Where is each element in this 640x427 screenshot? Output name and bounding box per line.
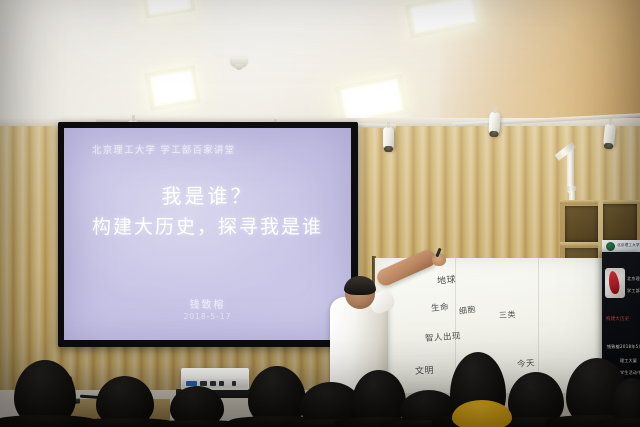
screen-vignette — [64, 128, 351, 340]
banner-vertical-title: 北京理工大学 — [627, 276, 640, 281]
banner-detail-2: 2018年5月17日 — [620, 344, 640, 349]
whiteboard-note-7: 文明 — [415, 363, 435, 377]
shelf-cubby-1 — [565, 206, 598, 242]
whiteboard-note-2: 地球 — [436, 272, 456, 287]
banner-detail-1: 钱致榕 — [607, 344, 620, 349]
whiteboard-note-5: 三类 — [499, 309, 517, 321]
banner-detail-4: 学生活动中心 — [620, 370, 640, 375]
banner-sub-text: 学工部百家讲堂 — [627, 288, 640, 293]
audience-head-11-shoulders — [599, 418, 640, 427]
whiteboard-note-4: 细胞 — [458, 304, 476, 317]
banner-highlight-text: 构建大历史 — [606, 316, 629, 322]
whiteboard-note-3: 生命 — [430, 300, 449, 314]
smoke-detector-icon — [231, 57, 247, 66]
whiteboard-note-6: 智人出现 — [425, 330, 462, 344]
banner-university-logo-icon — [606, 242, 615, 251]
wall-pipe-collar — [566, 186, 577, 191]
banner-detail-3: 理工大厦 — [620, 358, 637, 363]
projector-port-2 — [210, 381, 216, 386]
projector-port-1 — [200, 381, 207, 386]
projection-screen-frame: 北京理工大学 学工部百家讲堂 我是谁？ 构建大历史，探寻我是谁 钱致榕 2018… — [58, 122, 358, 347]
track-spotlight-4-icon — [488, 112, 500, 136]
shelf-cubby-2 — [603, 204, 637, 241]
projector-port-4 — [232, 381, 236, 386]
audience-head-3-shoulders — [153, 420, 242, 427]
banner-header-text: 北京理工大学 — [617, 243, 640, 248]
lecture-hall-photo: 北京理工大学 学工部百家讲堂 我是谁？ 构建大历史，探寻我是谁 钱致榕 2018… — [0, 0, 640, 427]
track-spotlight-3-icon — [383, 127, 394, 150]
projector-port-3 — [219, 381, 224, 386]
track-spotlight-5-icon — [603, 124, 616, 148]
whiteboard-note-8: 今天 — [516, 356, 535, 370]
projection-screen-surface: 北京理工大学 学工部百家讲堂 我是谁？ 构建大历史，探寻我是谁 钱致榕 2018… — [64, 128, 351, 340]
